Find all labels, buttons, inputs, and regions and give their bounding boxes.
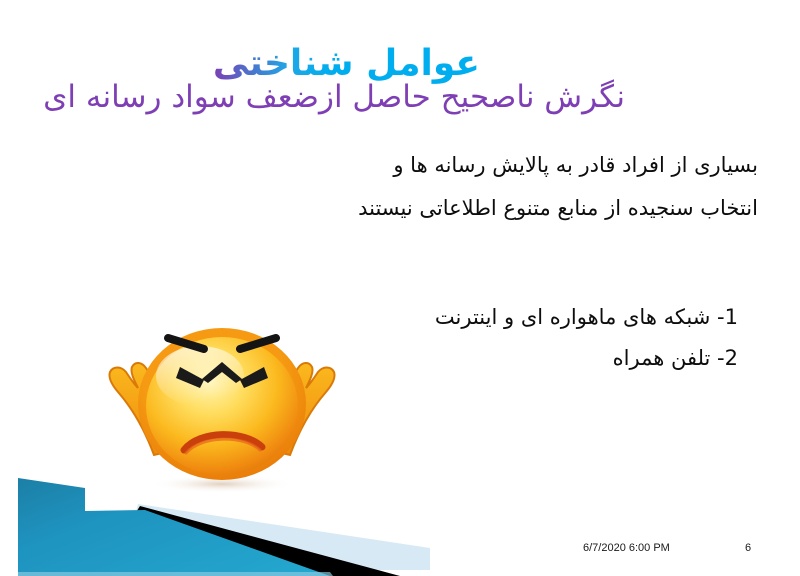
slide-body-block: بسیاری از افراد قادر به پالایش رسانه ها … [58,155,758,241]
slide-numbered-list: 1- شبکه های ماهواره ای و اینترنت 2- تلفن… [435,307,738,389]
slide-title-secondary: نگرش ناصحیح حاصل ازضعف سواد رسانه ای [40,80,625,116]
slide-title-block: عوامل شناختی نگرش ناصحیح حاصل ازضعف سواد… [40,44,760,115]
body-paragraph-line-2: انتخاب سنجیده از منابع متنوع اطلاعاتی نی… [58,198,758,219]
list-item: 1- شبکه های ماهواره ای و اینترنت [435,307,738,328]
footer-page-number: 6 [745,542,751,554]
body-paragraph-line-1: بسیاری از افراد قادر به پالایش رسانه ها … [58,155,758,176]
list-item: 2- تلفن همراه [435,348,738,369]
presentation-slide: عوامل شناختی نگرش ناصحیح حاصل ازضعف سواد… [0,0,800,576]
footer-timestamp: 6/7/2020 6:00 PM [583,542,670,554]
confused-shrug-emoticon-icon [72,300,364,500]
slide-title-primary: عوامل شناختی [213,44,480,84]
